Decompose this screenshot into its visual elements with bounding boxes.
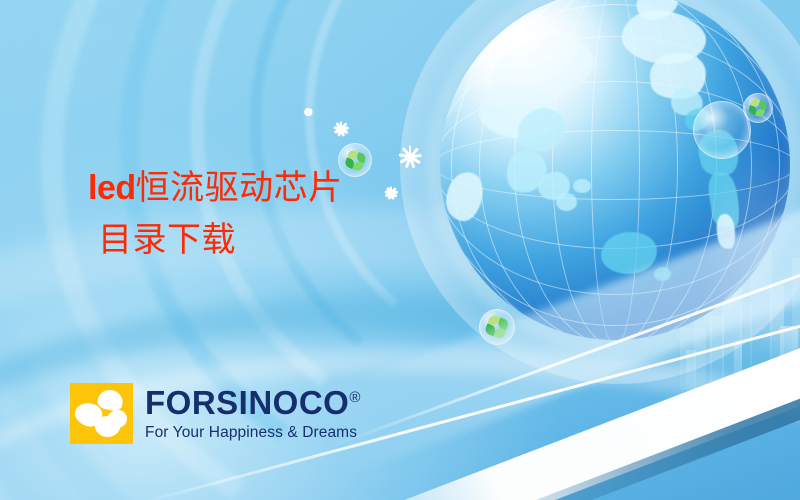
brand-tagline: For Your Happiness & Dreams <box>145 425 361 441</box>
brand-name: FORSINOCO® <box>145 386 361 419</box>
headline-line-1: led恒流驱动芯片 <box>88 163 343 215</box>
headline-line-1-rest: 恒流驱动芯片 <box>136 170 343 207</box>
promo-banner: led恒流驱动芯片 目录下载 FORSINOCO® For Your Happi… <box>0 0 800 500</box>
registered-trademark-icon: ® <box>349 389 361 406</box>
brand-name-text: FORSINOCO <box>145 384 349 421</box>
headline-lead: led <box>88 169 136 207</box>
headline-line-2: 目录下载 <box>98 215 343 267</box>
logo-wordmark: FORSINOCO® For Your Happiness & Dreams <box>145 386 361 441</box>
brand-logo[interactable]: FORSINOCO® For Your Happiness & Dreams <box>70 383 361 444</box>
forsinoco-clover-mark-icon <box>70 383 133 444</box>
headline-text: led恒流驱动芯片 目录下载 <box>88 163 343 266</box>
